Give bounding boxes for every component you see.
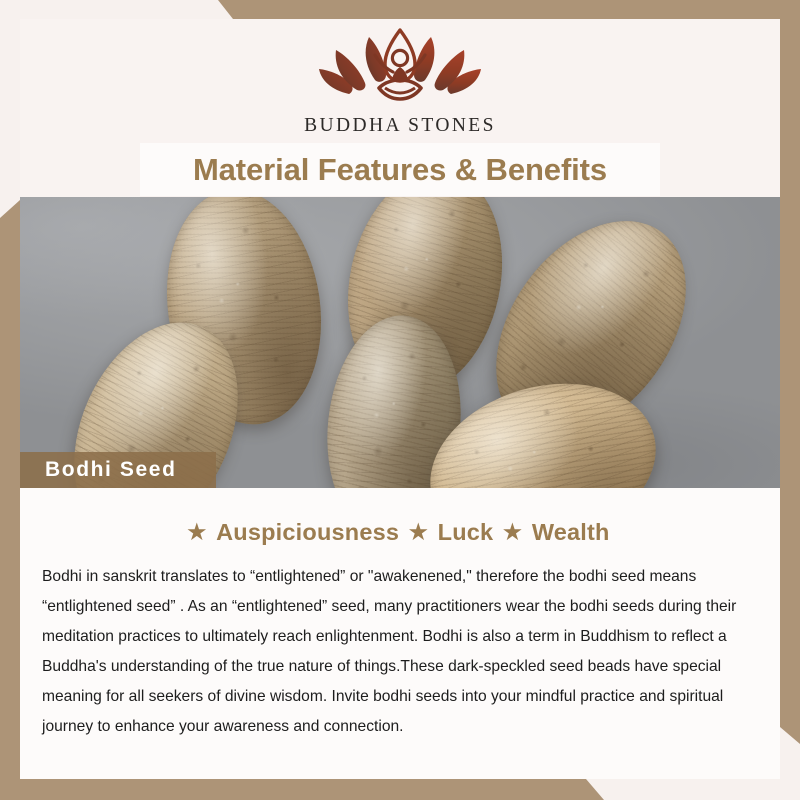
frame-bottom-bar (0, 779, 800, 800)
bodhi-seed-photo: Bodhi Seed (20, 197, 780, 488)
star-icon-1: ★ (187, 521, 206, 544)
frame-left-bar (0, 0, 20, 800)
material-name-label: Bodhi Seed (45, 458, 177, 482)
infographic-page: BUDDHA STONES Material Features & Benefi… (0, 0, 800, 800)
content-canvas: BUDDHA STONES Material Features & Benefi… (20, 19, 780, 779)
benefit-label-2: Luck (438, 519, 494, 545)
lotus-meditation-figure-icon (305, 28, 495, 112)
brand-name: BUDDHA STONES (20, 115, 780, 137)
frame-top-bar (0, 0, 800, 19)
star-icon-2: ★ (409, 521, 428, 544)
star-icon-3: ★ (503, 521, 522, 544)
page-title: Material Features & Benefits (193, 152, 607, 188)
benefit-label-3: Wealth (532, 519, 610, 545)
benefits-headline: ★ Auspiciousness ★ Luck ★ Wealth (20, 519, 780, 546)
title-band: Material Features & Benefits (140, 143, 660, 196)
description-paragraph: Bodhi in sanskrit translates to “entligh… (42, 562, 758, 742)
frame-right-bar (780, 0, 800, 800)
brand-header: BUDDHA STONES (20, 19, 780, 143)
description-section: ★ Auspiciousness ★ Luck ★ Wealth Bodhi i… (20, 488, 780, 779)
benefit-label-1: Auspiciousness (216, 519, 399, 545)
material-name-tag: Bodhi Seed (20, 452, 216, 488)
